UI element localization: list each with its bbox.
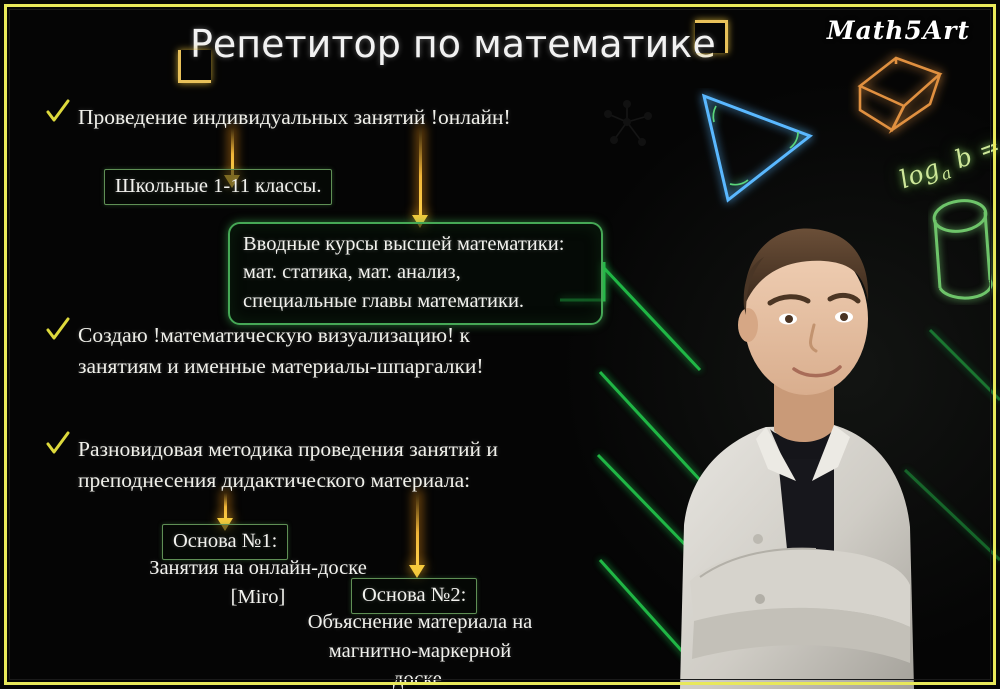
tutor-photo bbox=[638, 129, 938, 689]
box-line: специальные главы математики. bbox=[243, 287, 588, 315]
bullet-online-lessons: Проведение индивидуальных занятий !онлай… bbox=[78, 102, 618, 133]
bullet-line: преподнесения дидактического материала: bbox=[78, 465, 623, 496]
brand-logo: Math5Art bbox=[827, 16, 970, 45]
arrow-shaft bbox=[231, 128, 234, 175]
box-line: Школьные 1-11 классы. bbox=[115, 172, 321, 200]
poster-canvas: loga b = bbox=[0, 0, 1000, 689]
foundation-label-text: Основа №2: bbox=[362, 581, 466, 609]
bullet-visualization: Создаю !математическую визуализацию! к з… bbox=[78, 320, 618, 381]
log-formula-subscript: a bbox=[938, 163, 954, 184]
bullet-line: Разновидовая методика проведения занятий… bbox=[78, 434, 623, 465]
box-line: Вводные курсы высшей математики: bbox=[243, 230, 588, 258]
box-line: мат. статика, мат. анализ, bbox=[243, 258, 588, 286]
bullet-line: занятиям и именные материалы-шпаргалки! bbox=[78, 351, 618, 382]
arrow-shaft bbox=[416, 493, 419, 565]
log-formula-rest: b = bbox=[943, 131, 1000, 177]
box-school-grades: Школьные 1-11 классы. bbox=[104, 169, 332, 205]
arrow-shaft bbox=[224, 493, 227, 518]
page-title: Репетитор по математике bbox=[178, 20, 728, 70]
caption-line: магнитно-маркерной bbox=[270, 637, 570, 666]
box-higher-math: Вводные курсы высшей математики: мат. ст… bbox=[228, 222, 603, 325]
foundation-2-caption: Объяснение материала на магнитно-маркерн… bbox=[270, 608, 570, 689]
arrow-head bbox=[409, 565, 425, 578]
foundation-label-text: Основа №1: bbox=[173, 527, 277, 555]
caption-line: Объяснение материала на bbox=[270, 608, 570, 637]
bullet-line: Создаю !математическую визуализацию! к bbox=[78, 320, 618, 351]
arrow-to-foundation-2 bbox=[407, 493, 427, 578]
cylinder-icon bbox=[928, 190, 998, 305]
arrow-shaft bbox=[419, 128, 422, 215]
caption-line: доске. bbox=[270, 665, 570, 689]
check-icon bbox=[45, 317, 71, 343]
check-icon bbox=[45, 99, 71, 125]
arrow-to-higher-math bbox=[410, 128, 430, 228]
bullet-line: Проведение индивидуальных занятий !онлай… bbox=[78, 102, 618, 133]
bullet-methodology: Разновидовая методика проведения занятий… bbox=[78, 434, 623, 495]
check-icon bbox=[45, 431, 71, 457]
page-title-text: Репетитор по математике bbox=[190, 22, 716, 66]
